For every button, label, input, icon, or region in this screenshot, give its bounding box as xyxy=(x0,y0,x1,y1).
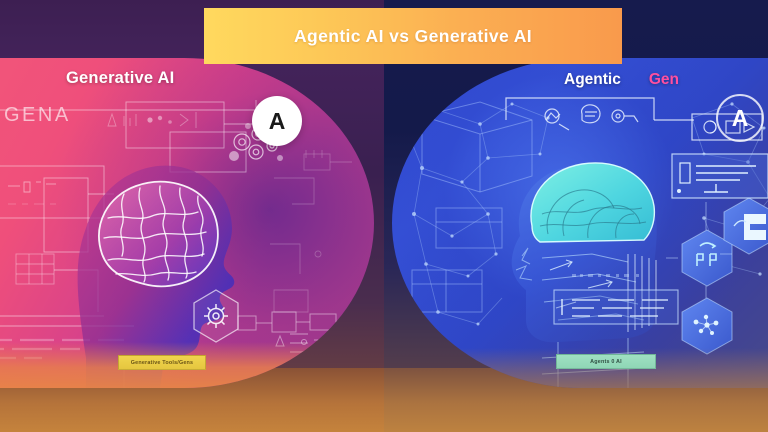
title-banner: Agentic AI vs Generative AI xyxy=(204,8,622,64)
agentic-ai-panel xyxy=(392,58,768,388)
infographic-canvas: Agentic AI vs Generative AI Generative A… xyxy=(0,0,768,432)
generative-caption-pill: Generative Tools/Gens xyxy=(118,355,206,370)
agentic-ai-artwork xyxy=(392,58,768,388)
document-card-icon xyxy=(554,290,678,324)
gen-heading: Gen xyxy=(649,71,679,89)
page-title: Agentic AI vs Generative AI xyxy=(294,26,532,47)
generative-ai-heading: Generative AI xyxy=(66,69,174,88)
generative-a-badge: A xyxy=(252,96,302,146)
gena-watermark: GENA xyxy=(4,104,71,127)
agentic-a-badge: A xyxy=(716,94,764,142)
agentic-heading: Agentic xyxy=(564,71,621,89)
agentic-caption-pill: Agents 0 AI xyxy=(556,354,656,369)
browser-window-icon xyxy=(672,154,768,198)
agentic-ai-heading-group: Agentic Gen xyxy=(564,71,679,89)
network-hexagon-icon xyxy=(682,298,732,354)
